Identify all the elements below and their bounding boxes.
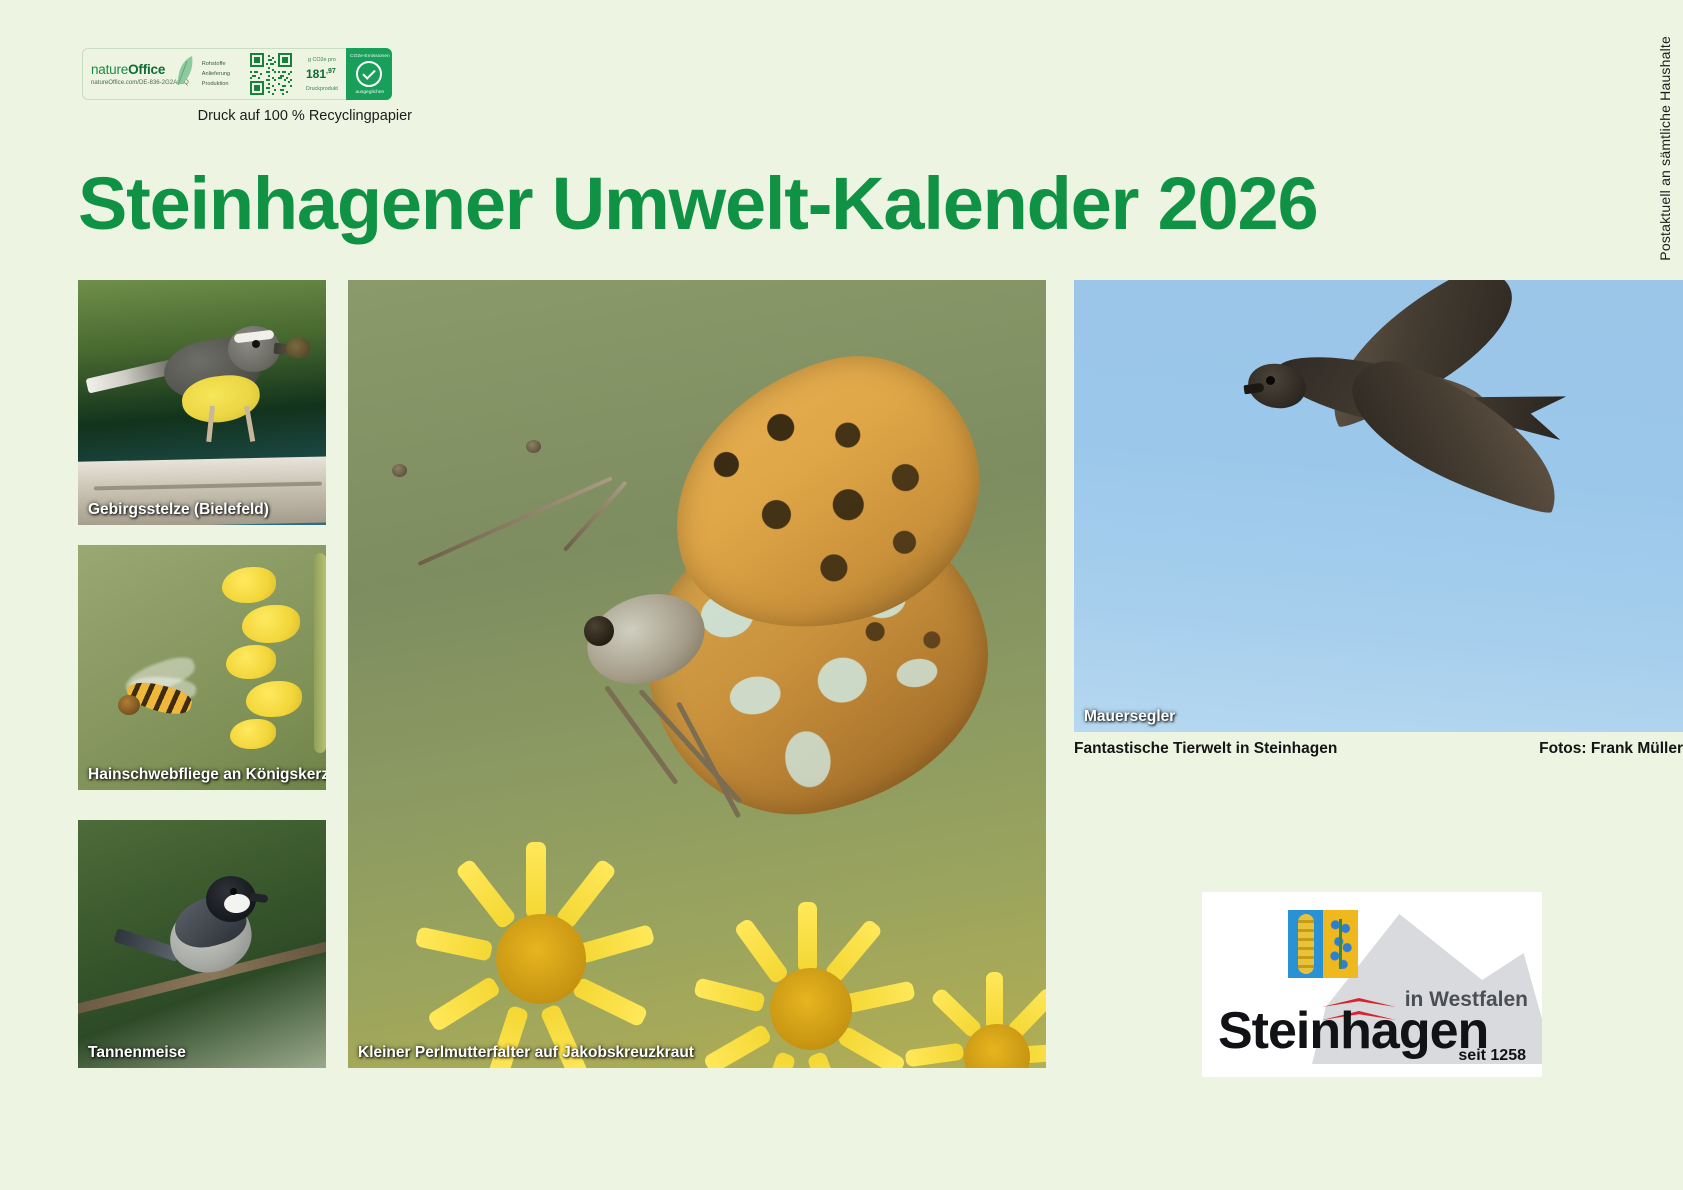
co2-offset-label-bottom: ausgeglichen [346,90,392,95]
eco-process-steps: Rohstoffe Anlieferung Produktion [196,48,246,100]
photo-fritillary-butterfly[interactable]: Kleiner Perlmutterfalter auf Jakobskreuz… [348,280,1046,1068]
nature-office-wordmark-bold: Office [128,62,165,77]
coat-of-arms-icon [1288,910,1358,978]
calendar-cover-page: natureOffice natureOffice.com/DE-836-2G2… [0,0,1683,1190]
swift-illustration [1074,280,1683,732]
eco-step-production: Produktion [202,81,246,87]
photo-caption: Gebirgsstelze (Bielefeld) [88,501,269,519]
photo-common-swift[interactable]: Mauersegler [1074,280,1683,732]
leaf-icon [174,55,194,87]
coal-tit-illustration [78,820,326,1068]
photo-caption: Mauersegler [1084,708,1175,726]
photo-caption: Tannenmeise [88,1044,186,1062]
co2-offset-label-top: CO2e-Emissionen [346,54,392,59]
credit-subject: Fantastische Tierwelt in Steinhagen [1074,740,1337,758]
page-title: Steinhagener Umwelt-Kalender 2026 [78,161,1317,246]
photo-coal-tit[interactable]: Tannenmeise [78,820,326,1068]
photo-caption: Kleiner Perlmutterfalter auf Jakobskreuz… [358,1044,694,1062]
co2-value-decimals: ,97 [326,68,336,75]
eco-qr-cell[interactable] [246,48,296,100]
co2-amount-label-bottom: Druckprodukt [296,86,348,92]
co2-value-integer: 181 [306,67,326,81]
photo-caption: Hainschwebfliege an Königskerze [88,766,326,784]
co2-amount-cell: g CO2e pro 181,97 Druckprodukt [296,48,346,100]
steinhagen-logo[interactable]: in Westfalen Steinhagen seit 1258 [1202,892,1542,1077]
co2-offset-badge: CO2e-Emissionen ausgeglichen [346,48,392,100]
logo-since-label: seit 1258 [1458,1047,1526,1065]
butterfly-illustration [348,280,1046,1068]
recycling-note: Druck auf 100 % Recyclingpapier [82,108,412,124]
photo-grey-wagtail[interactable]: Gebirgsstelze (Bielefeld) [78,280,326,525]
wagtail-illustration [78,280,326,525]
eco-step-raw-materials: Rohstoffe [202,61,246,67]
co2-amount-label-top: g CO2e pro [296,57,348,63]
nature-office-wordmark-light: nature [91,62,128,77]
eco-step-delivery: Anlieferung [202,71,246,77]
logo-town-name: Steinhagen [1218,1005,1488,1057]
qr-code-icon[interactable] [250,53,292,95]
photo-hoverfly[interactable]: Hainschwebfliege an Königskerze [78,545,326,790]
nature-office-badge: natureOffice natureOffice.com/DE-836-2G2… [82,48,392,100]
hoverfly-illustration [78,545,326,790]
nature-office-logo: natureOffice natureOffice.com/DE-836-2G2… [82,48,196,100]
co2-amount-value: 181,97 [306,67,336,81]
credit-photographer: Fotos: Frank Müller [1539,740,1683,758]
photo-credit-row: Fantastische Tierwelt in Steinhagen Foto… [1074,740,1683,758]
postal-delivery-note: Postaktuell an sämtliche Haushalte [1657,36,1673,261]
check-icon [356,61,382,87]
